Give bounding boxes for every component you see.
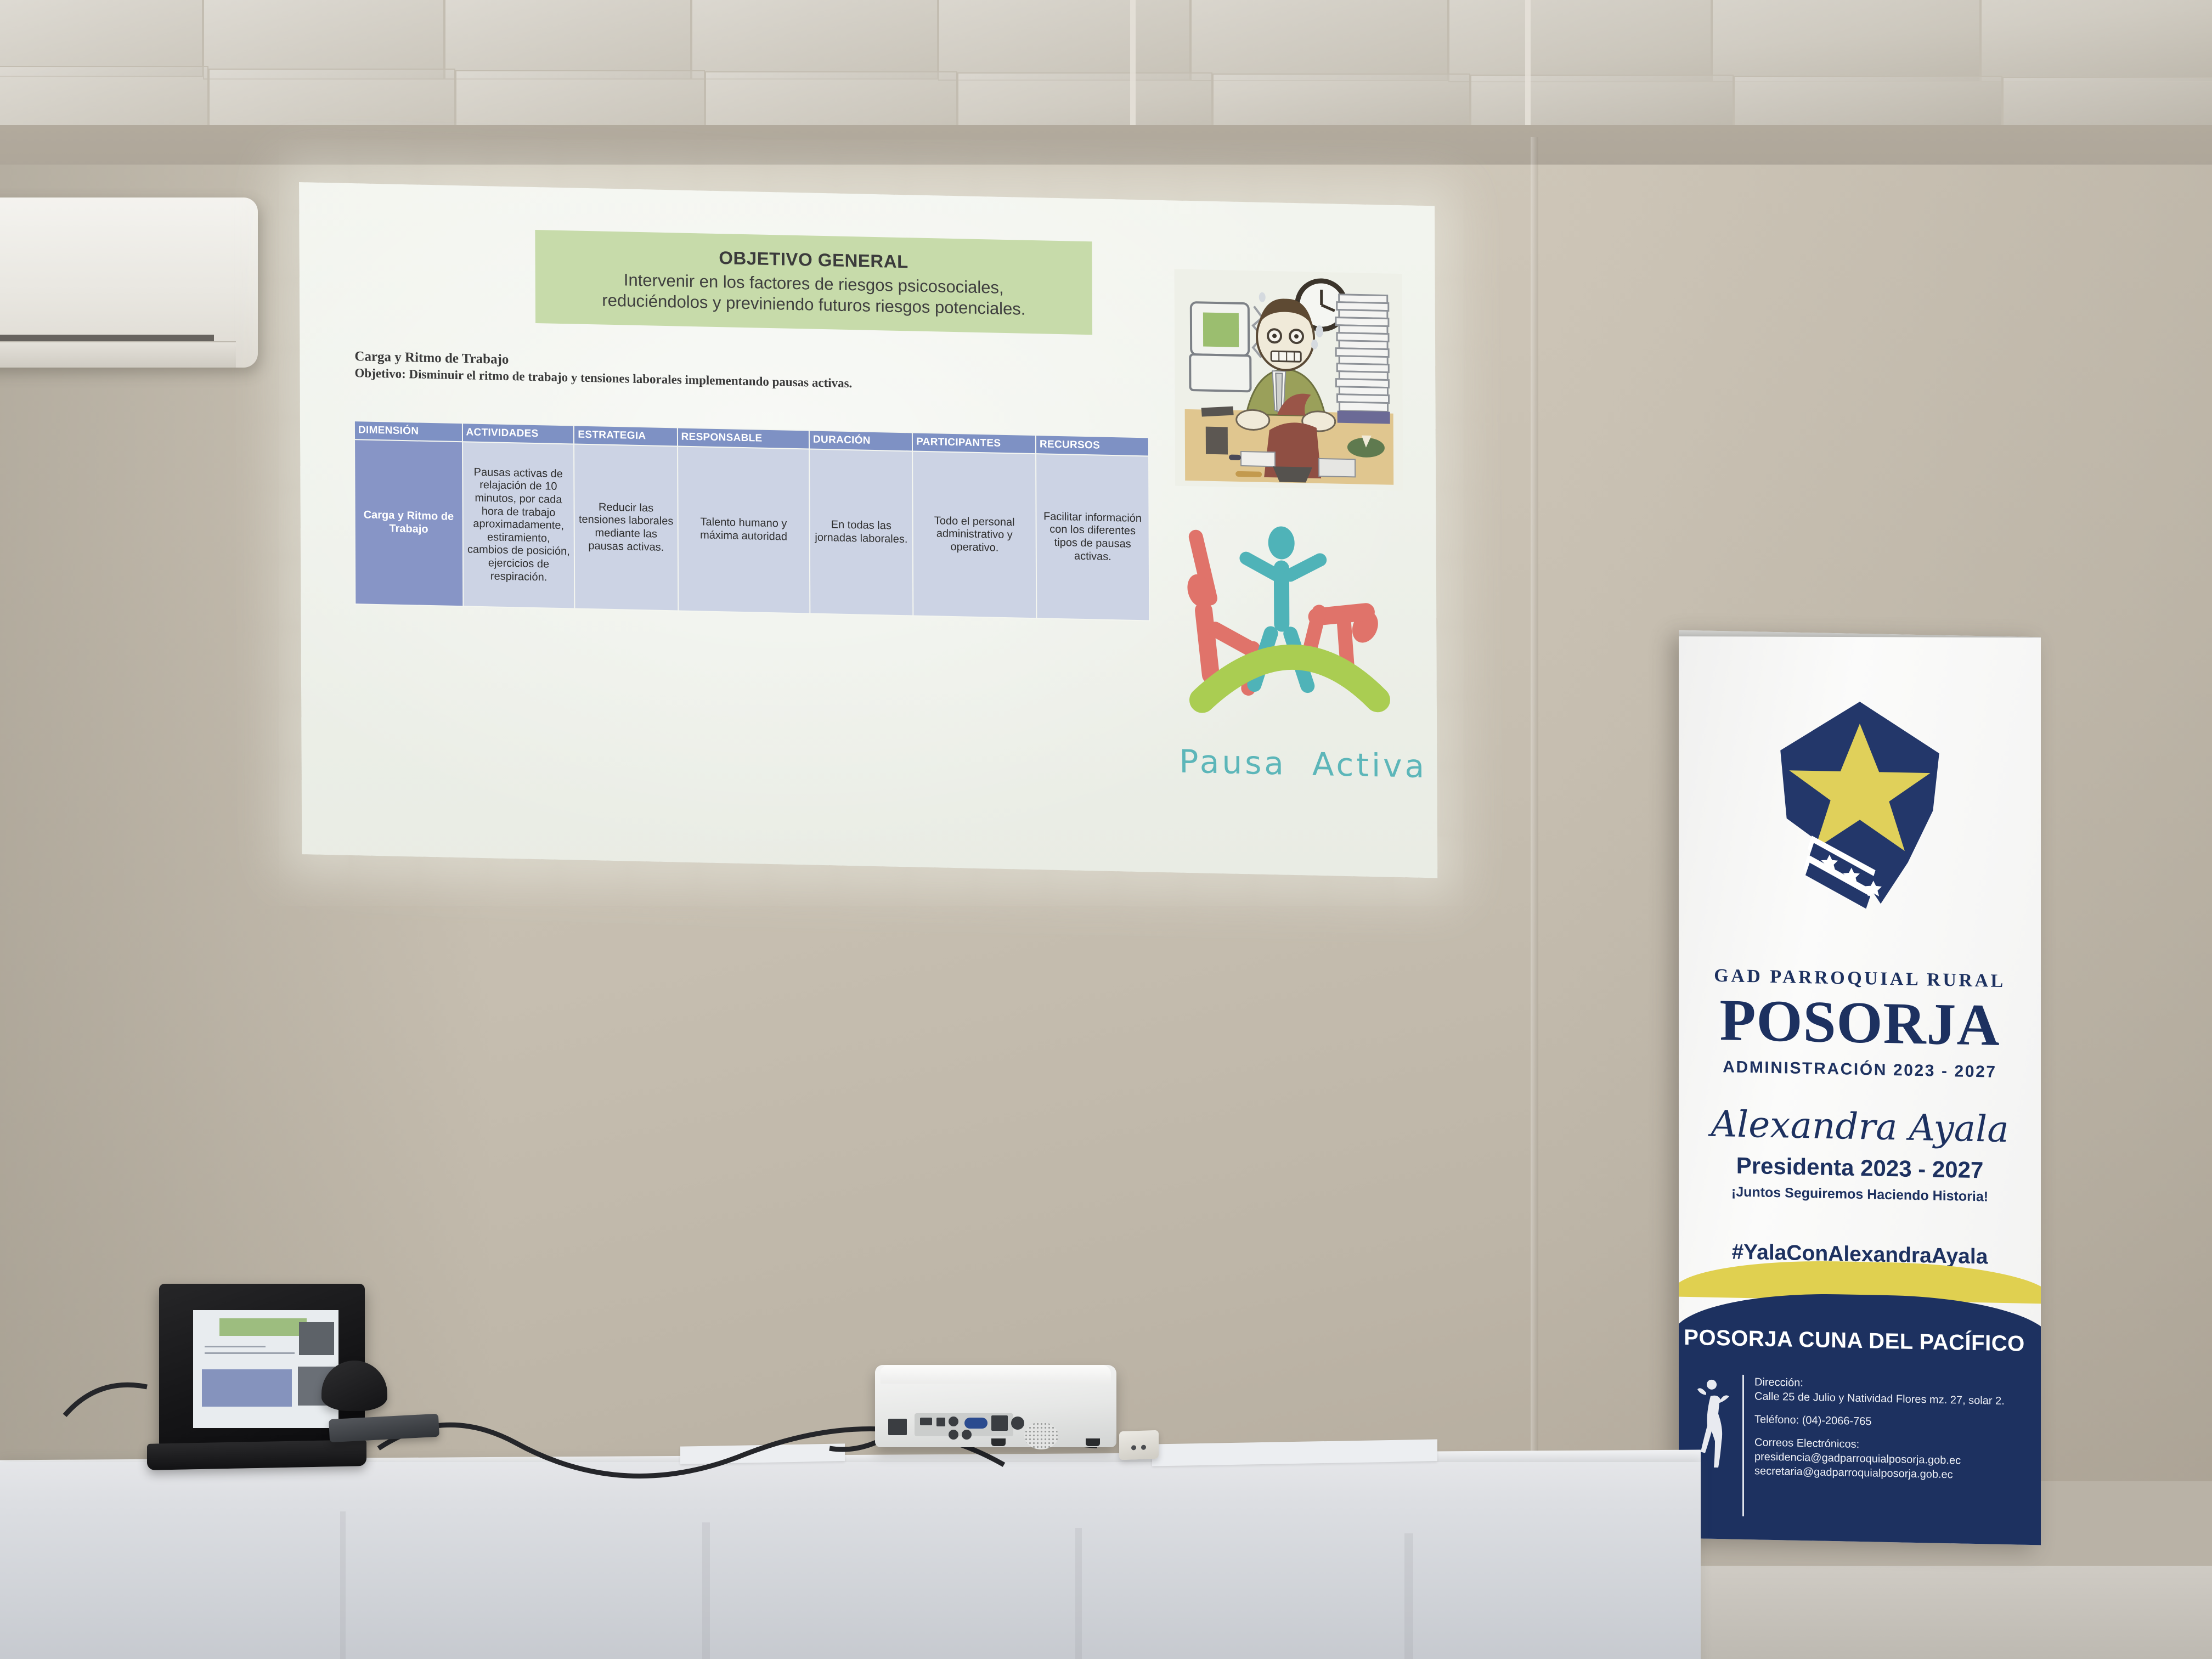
laptop-slide-table (202, 1369, 292, 1407)
projector-foot (991, 1438, 1006, 1446)
audio-port (962, 1430, 972, 1440)
laptop-screen (193, 1310, 338, 1428)
projector-top-panel (881, 1365, 1111, 1384)
laptop-slide-objective-box (219, 1318, 307, 1336)
usb-port (936, 1418, 945, 1426)
laptop-slide-clipart (299, 1322, 334, 1355)
vga-port (964, 1418, 988, 1429)
rca-port (949, 1417, 958, 1426)
power-socket (888, 1419, 907, 1435)
video-projector[interactable] (875, 1355, 1116, 1457)
projector-remote[interactable] (1119, 1430, 1159, 1460)
laptop-keyboard-base[interactable] (147, 1440, 366, 1470)
video-out-port (991, 1415, 1008, 1431)
rca-port (949, 1430, 958, 1440)
round-port (1011, 1417, 1024, 1430)
projector-foot (1086, 1438, 1100, 1446)
power-cable (65, 1385, 147, 1415)
conference-room: OBJETIVO GENERAL Intervenir en los facto… (0, 0, 2212, 1659)
hdmi-port (920, 1418, 932, 1425)
projector-body (875, 1365, 1116, 1447)
projector-speaker-grille (1024, 1422, 1058, 1449)
